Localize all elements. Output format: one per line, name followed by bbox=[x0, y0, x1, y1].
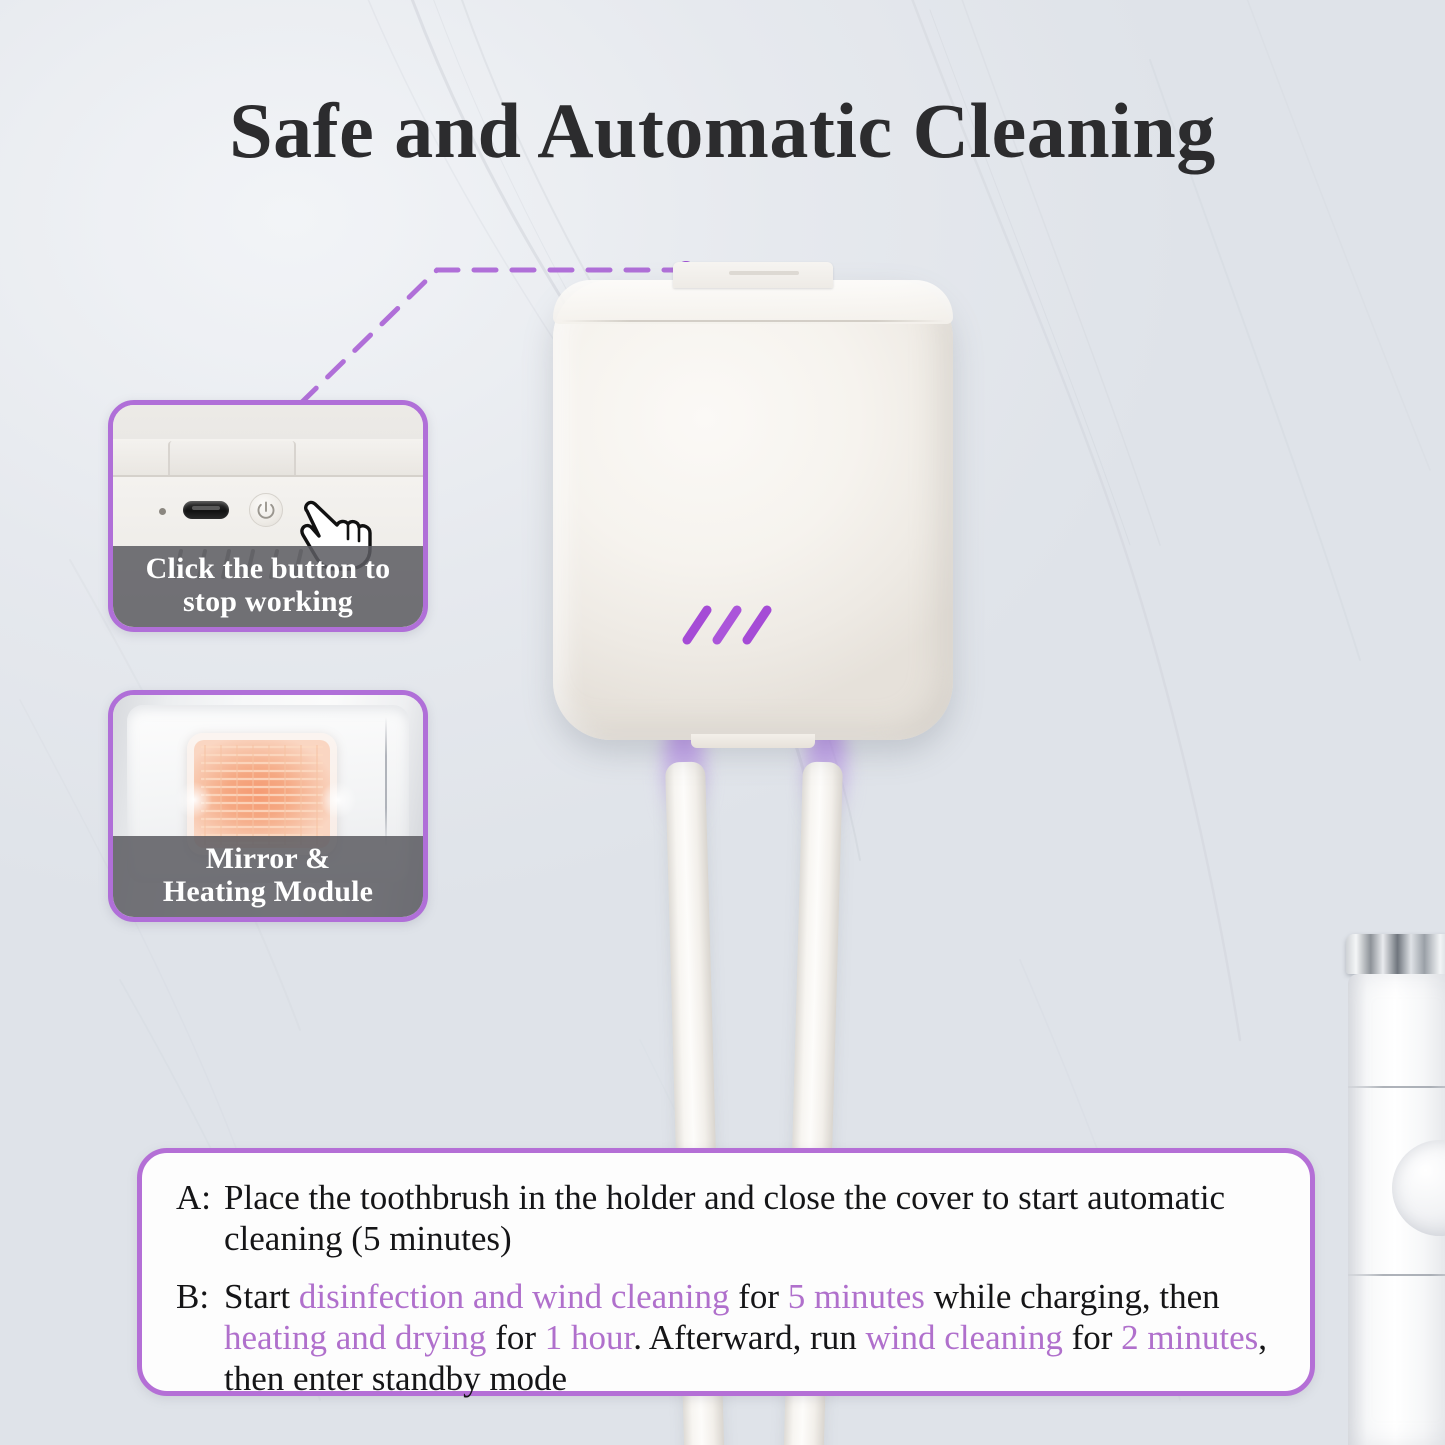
three-slashes-logo-icon bbox=[677, 598, 773, 650]
instructions-box: A:Place the toothbrush in the holder and… bbox=[137, 1148, 1315, 1396]
callout-heating-module[interactable]: Mirror & Heating Module bbox=[108, 690, 428, 922]
instruction-b-segment-8: . Afterward, run bbox=[633, 1318, 865, 1357]
instruction-a-text: Place the toothbrush in the holder and c… bbox=[224, 1178, 1225, 1258]
sparkle-icon-left bbox=[173, 779, 215, 821]
callout-heating-module-label-line1: Mirror & bbox=[119, 843, 417, 875]
instruction-b-segment-7: 1 hour bbox=[545, 1318, 633, 1357]
instruction-b-segment-6: for bbox=[486, 1318, 544, 1357]
callout-power-button-label: Click the button to stop working bbox=[113, 546, 423, 627]
instruction-line-a: A:Place the toothbrush in the holder and… bbox=[176, 1177, 1276, 1260]
instruction-b-segment-9: wind cleaning bbox=[866, 1318, 1063, 1357]
soap-dispenser-bottle bbox=[1336, 934, 1445, 1445]
sparkle-icon-right bbox=[317, 779, 359, 821]
instruction-b-segment-4: while charging, then bbox=[925, 1277, 1220, 1316]
instruction-b-segment-5: heating and drying bbox=[224, 1318, 486, 1357]
callout-heating-module-label-line2: Heating Module bbox=[119, 876, 417, 908]
instruction-b-text: Start disinfection and wind cleaning for… bbox=[224, 1277, 1267, 1399]
instruction-b-segment-0: Start bbox=[224, 1277, 299, 1316]
device-brush-dock bbox=[691, 734, 815, 748]
instruction-a-tag: A: bbox=[176, 1177, 224, 1218]
infographic-stage: Safe and Automatic Cleaning bbox=[0, 0, 1445, 1445]
instruction-b-segment-10: for bbox=[1063, 1318, 1121, 1357]
device-lid-tab bbox=[673, 262, 833, 288]
instruction-b-segment-3: 5 minutes bbox=[788, 1277, 925, 1316]
sanitizer-device bbox=[553, 262, 953, 762]
callout-power-button[interactable]: Click the button to stop working bbox=[108, 400, 428, 632]
instruction-b-tag: B: bbox=[176, 1276, 224, 1317]
device-body bbox=[553, 280, 953, 740]
callout-power-button-label-line2: stop working bbox=[119, 586, 417, 618]
bottle-seam-bottom bbox=[1348, 1274, 1445, 1276]
device-lid-seam bbox=[561, 320, 945, 322]
instruction-b-segment-1: disinfection and wind cleaning bbox=[299, 1277, 730, 1316]
page-title: Safe and Automatic Cleaning bbox=[0, 92, 1445, 170]
instruction-b-segment-11: 2 minutes bbox=[1121, 1318, 1258, 1357]
usb-c-port-icon bbox=[183, 501, 229, 519]
callout-heating-module-label: Mirror & Heating Module bbox=[113, 836, 423, 917]
callout-power-button-label-line1: Click the button to bbox=[119, 553, 417, 585]
bottle-chrome-cap bbox=[1346, 934, 1445, 974]
led-indicator-icon bbox=[159, 508, 166, 515]
bottle-seam-top bbox=[1348, 1086, 1445, 1088]
power-button-icon[interactable] bbox=[249, 493, 283, 527]
instruction-b-segment-2: for bbox=[729, 1277, 787, 1316]
instruction-line-b: B:Start disinfection and wind cleaning f… bbox=[176, 1276, 1276, 1400]
lid-slot-icon bbox=[729, 271, 799, 275]
